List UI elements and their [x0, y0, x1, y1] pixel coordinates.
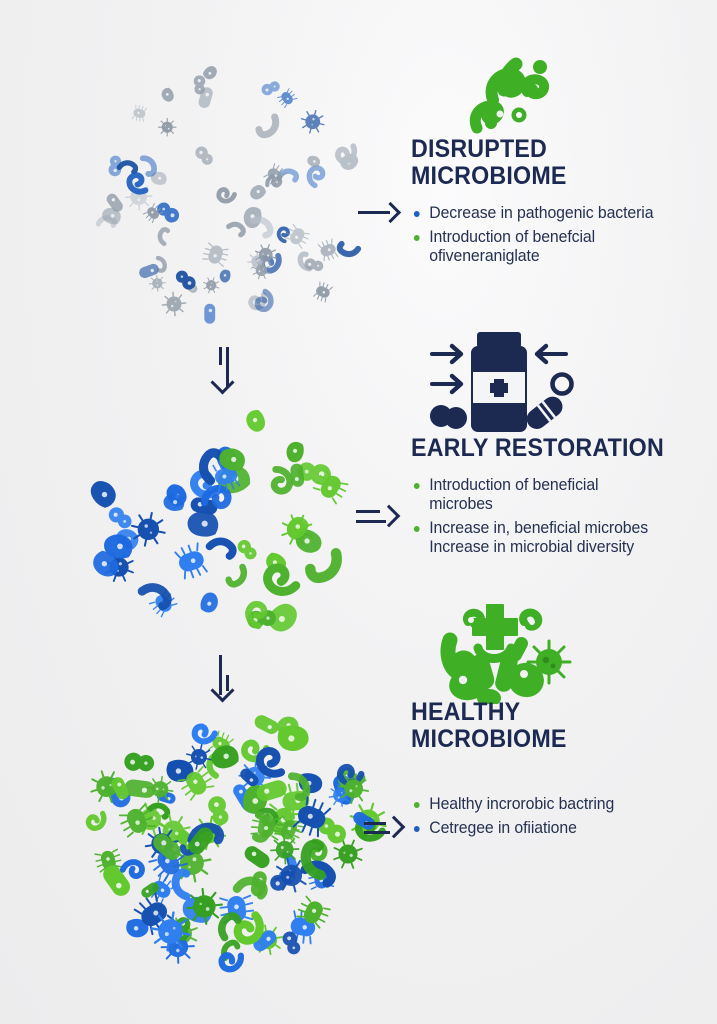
microbe [81, 806, 112, 837]
arrow-disrupted-to-text [358, 197, 406, 227]
microbe [127, 508, 170, 551]
bullet-text-line2: microbes [429, 495, 699, 514]
bullet-text: Introduction of beneficial [429, 476, 598, 494]
microbe [251, 109, 285, 143]
bullet-text: Cetregee in ofiiatione [429, 819, 577, 837]
microbe [279, 510, 316, 547]
stage-healthy: HEALTHY MICROBIOME Healthy incrorobic ba… [0, 700, 717, 1024]
early-restoration-microbe-cluster [88, 412, 360, 632]
page-title-early-restoration: EARLY RESTORATION [411, 435, 690, 462]
microbe [311, 280, 335, 304]
microbe [213, 944, 249, 980]
green-microbiome-cross-icon [412, 596, 584, 704]
disrupted-text-column: DISRUPTED MICROBIOME Decrease in pathoge… [411, 136, 711, 271]
microbe [134, 575, 176, 617]
microbe [276, 87, 298, 109]
microbe [330, 138, 363, 171]
microbe [311, 467, 351, 507]
microbe [212, 182, 239, 209]
microbe [262, 162, 288, 188]
arrow-healthy-to-text [364, 812, 416, 846]
list-item: Introduction of beneficial microbes [411, 476, 699, 514]
microbe [280, 458, 315, 493]
list-item: Introduction of benefcial ofiveneranigla… [411, 228, 699, 266]
bullet-text: Decrease in pathogenic bacteria [429, 204, 653, 222]
bullet-text: Introduction of benefcial [429, 228, 595, 246]
microbe [157, 84, 179, 106]
microbe [283, 222, 312, 251]
microbe [246, 211, 278, 243]
microbe [252, 241, 279, 268]
healthy-microbe-cluster [92, 714, 370, 962]
microbe [247, 807, 286, 846]
microbe [186, 717, 221, 752]
bullet-text: Increase in, beneficial microbes [429, 519, 648, 537]
microbe [134, 256, 164, 286]
microbe [315, 237, 341, 263]
list-item: Healthy incrorobic bactring [411, 795, 699, 814]
list-item: Decrease in pathogenic bacteria [411, 204, 699, 223]
early-bullet-list: Introduction of beneficial microbes Incr… [411, 476, 711, 558]
microbe [179, 819, 223, 863]
microbe [298, 107, 328, 137]
healthy-text-column: HEALTHY MICROBIOME Healthy incrorobic ba… [411, 699, 711, 843]
list-item: Increase in, beneficial microbes Increas… [411, 519, 699, 557]
flow-arrow-stage1-to-stage2 [205, 347, 255, 405]
green-bacteria-icon [444, 52, 564, 134]
microbe [190, 82, 221, 113]
microbe [248, 706, 285, 743]
microbe [211, 439, 252, 480]
microbe [224, 217, 249, 242]
page-title-disrupted: DISRUPTED MICROBIOME [411, 136, 690, 190]
microbe [215, 266, 236, 287]
microbe [293, 249, 318, 274]
microbe [294, 893, 333, 932]
microbe [170, 264, 201, 295]
bullet-dot-green [414, 235, 420, 241]
microbe [303, 151, 324, 172]
bullet-dot-green [414, 526, 420, 532]
microbe [146, 907, 195, 956]
microbe [129, 103, 150, 124]
microbe [144, 773, 176, 805]
stage-disrupted: DISRUPTED MICROBIOME Decrease in pathoge… [0, 0, 717, 340]
disrupted-bullet-list: Decrease in pathogenic bacteria Introduc… [411, 204, 711, 266]
microbe [120, 167, 153, 200]
arrow-early-to-text [356, 500, 408, 534]
bullet-text-line2: Increase in microbial diversity [429, 538, 699, 557]
healthy-bullet-list: Healthy incrorobic bactring Cetregee in … [411, 795, 711, 838]
microbe [195, 299, 224, 328]
page-title-healthy-line2: MICROBIOME [411, 726, 690, 753]
microbe [190, 142, 219, 171]
bullet-dot-green [414, 802, 420, 808]
list-item: Cetregee in ofiiatione [411, 819, 699, 838]
microbe [176, 763, 217, 804]
bullet-text: Healthy incrorobic bactring [429, 795, 614, 813]
page-title-healthy-line1: HEALTHY [411, 699, 690, 726]
disrupted-microbe-cluster [95, 70, 360, 335]
pill-bottle-icon [416, 332, 581, 440]
bullet-dot-blue [414, 211, 420, 217]
microbe [234, 762, 265, 793]
microbe [289, 794, 335, 840]
infographic-poster: DISRUPTED MICROBIOME Decrease in pathoge… [0, 0, 717, 1024]
early-text-column: EARLY RESTORATION Introduction of benefi… [411, 435, 711, 562]
microbe [335, 770, 372, 807]
microbe [85, 543, 128, 586]
bullet-dot-blue [414, 826, 420, 832]
microbe [142, 202, 164, 224]
bullet-text-line2: ofiveneraniglate [429, 247, 699, 266]
microbe [249, 286, 280, 317]
microbe [239, 404, 274, 439]
microbe [254, 555, 305, 606]
bullet-dot-green [414, 483, 420, 489]
microbe [221, 560, 253, 592]
microbe [211, 908, 248, 945]
microbe [156, 116, 178, 138]
stage-early-restoration: EARLY RESTORATION Introduction of benefi… [0, 400, 717, 690]
